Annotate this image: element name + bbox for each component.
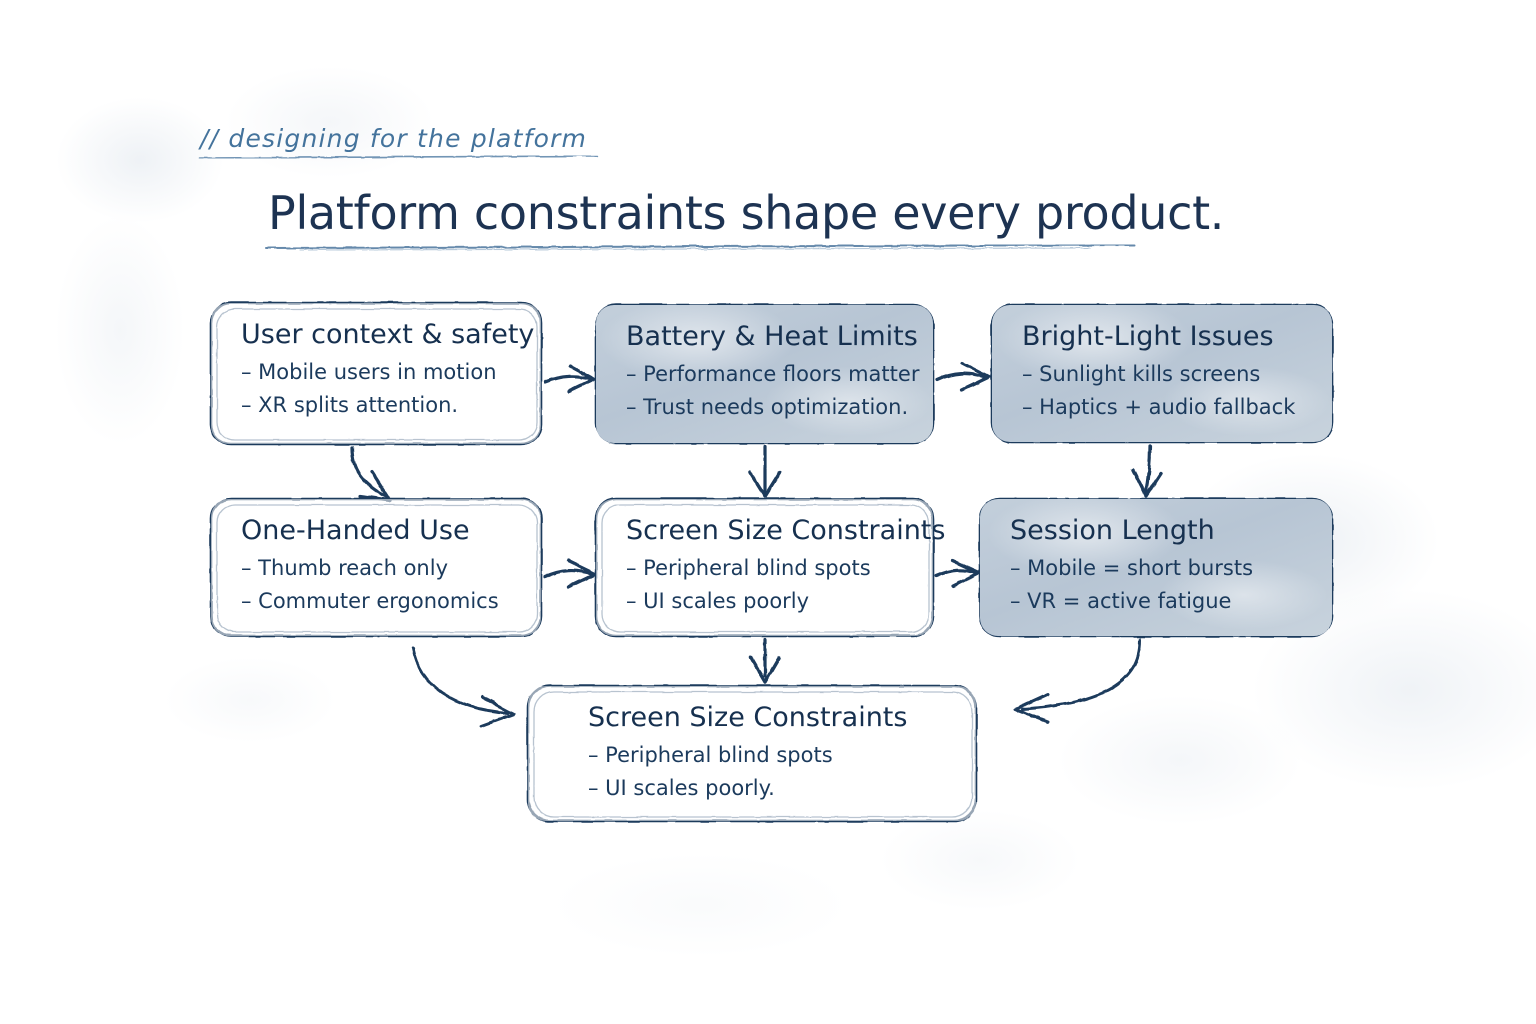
node-title: One-Handed Use: [241, 515, 515, 546]
node-user-context-safety[interactable]: User context & safety – Mobile users in …: [211, 303, 541, 444]
node-title: Session Length: [1010, 515, 1306, 546]
node-battery-heat-limits[interactable]: Battery & Heat Limits – Performance floo…: [596, 305, 933, 443]
node-title: Screen Size Constraints: [588, 702, 950, 733]
arrow-screen-size-to-summary: [751, 640, 779, 682]
node-bullet: – Peripheral blind spots: [588, 739, 950, 772]
node-title: Screen Size Constraints: [626, 515, 907, 546]
arrow-user-context-to-battery: [545, 366, 594, 391]
node-bullet: – XR splits attention.: [241, 389, 515, 422]
node-bright-light-issues[interactable]: Bright-Light Issues – Sunlight kills scr…: [992, 305, 1332, 442]
node-session-length[interactable]: Session Length – Mobile = short bursts –…: [980, 499, 1332, 636]
node-bullet: – Sunlight kills screens: [1022, 358, 1306, 391]
node-title: Battery & Heat Limits: [626, 321, 907, 352]
arrow-screen-size-to-session-length: [936, 561, 979, 586]
title-underline: [266, 245, 1134, 250]
node-bullet: – Trust needs optimization.: [626, 391, 907, 424]
node-bullet: – Performance floors matter: [626, 358, 907, 391]
eyebrow-underline: [200, 156, 598, 158]
node-bullet: – Mobile users in motion: [241, 356, 515, 389]
arrow-battery-to-screen-size: [750, 447, 780, 496]
node-screen-size-constraints-summary[interactable]: Screen Size Constraints – Peripheral bli…: [528, 686, 976, 821]
eyebrow-label: // designing for the platform: [200, 124, 587, 153]
arrow-one-handed-to-screen-size: [545, 561, 595, 587]
arrow-one-handed-to-summary: [413, 648, 514, 726]
node-bullet: – UI scales poorly.: [588, 772, 950, 805]
node-bullet: – VR = active fatigue: [1010, 585, 1306, 618]
node-bullet: – UI scales poorly: [626, 585, 907, 618]
node-bullet: – Haptics + audio fallback: [1022, 391, 1306, 424]
node-bullet: – Thumb reach only: [241, 552, 515, 585]
node-bullet: – Mobile = short bursts: [1010, 552, 1306, 585]
node-screen-size-constraints[interactable]: Screen Size Constraints – Peripheral bli…: [596, 499, 933, 636]
node-title: Bright-Light Issues: [1022, 321, 1306, 352]
arrow-battery-to-bright-light: [937, 363, 989, 390]
arrow-bright-light-to-session-length: [1133, 446, 1161, 496]
diagram-canvas: // designing for the platform Platform c…: [0, 0, 1536, 1024]
node-one-handed-use[interactable]: One-Handed Use – Thumb reach only – Comm…: [211, 499, 541, 636]
arrow-session-length-to-summary: [1015, 641, 1140, 722]
node-title: User context & safety: [241, 319, 515, 350]
page-title: Platform constraints shape every product…: [268, 186, 1224, 240]
node-bullet: – Commuter ergonomics: [241, 585, 515, 618]
arrow-user-context-to-one-handed: [352, 448, 390, 500]
node-bullet: – Peripheral blind spots: [626, 552, 907, 585]
